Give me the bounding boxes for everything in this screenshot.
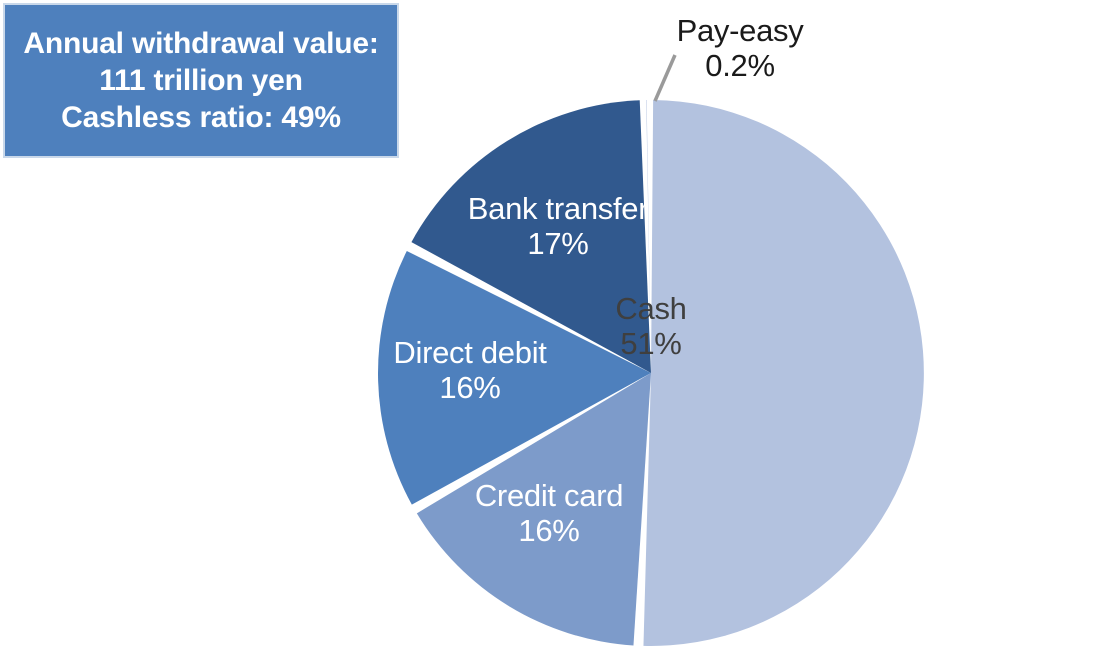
chart-canvas: Annual withdrawal value: 111 trillion ye… (0, 0, 1120, 668)
pie-chart-graphic (0, 0, 1120, 668)
pay-easy-leader-line (655, 55, 675, 101)
pie-slice-cash[interactable] (643, 100, 923, 646)
pie-slice-group (378, 100, 924, 646)
